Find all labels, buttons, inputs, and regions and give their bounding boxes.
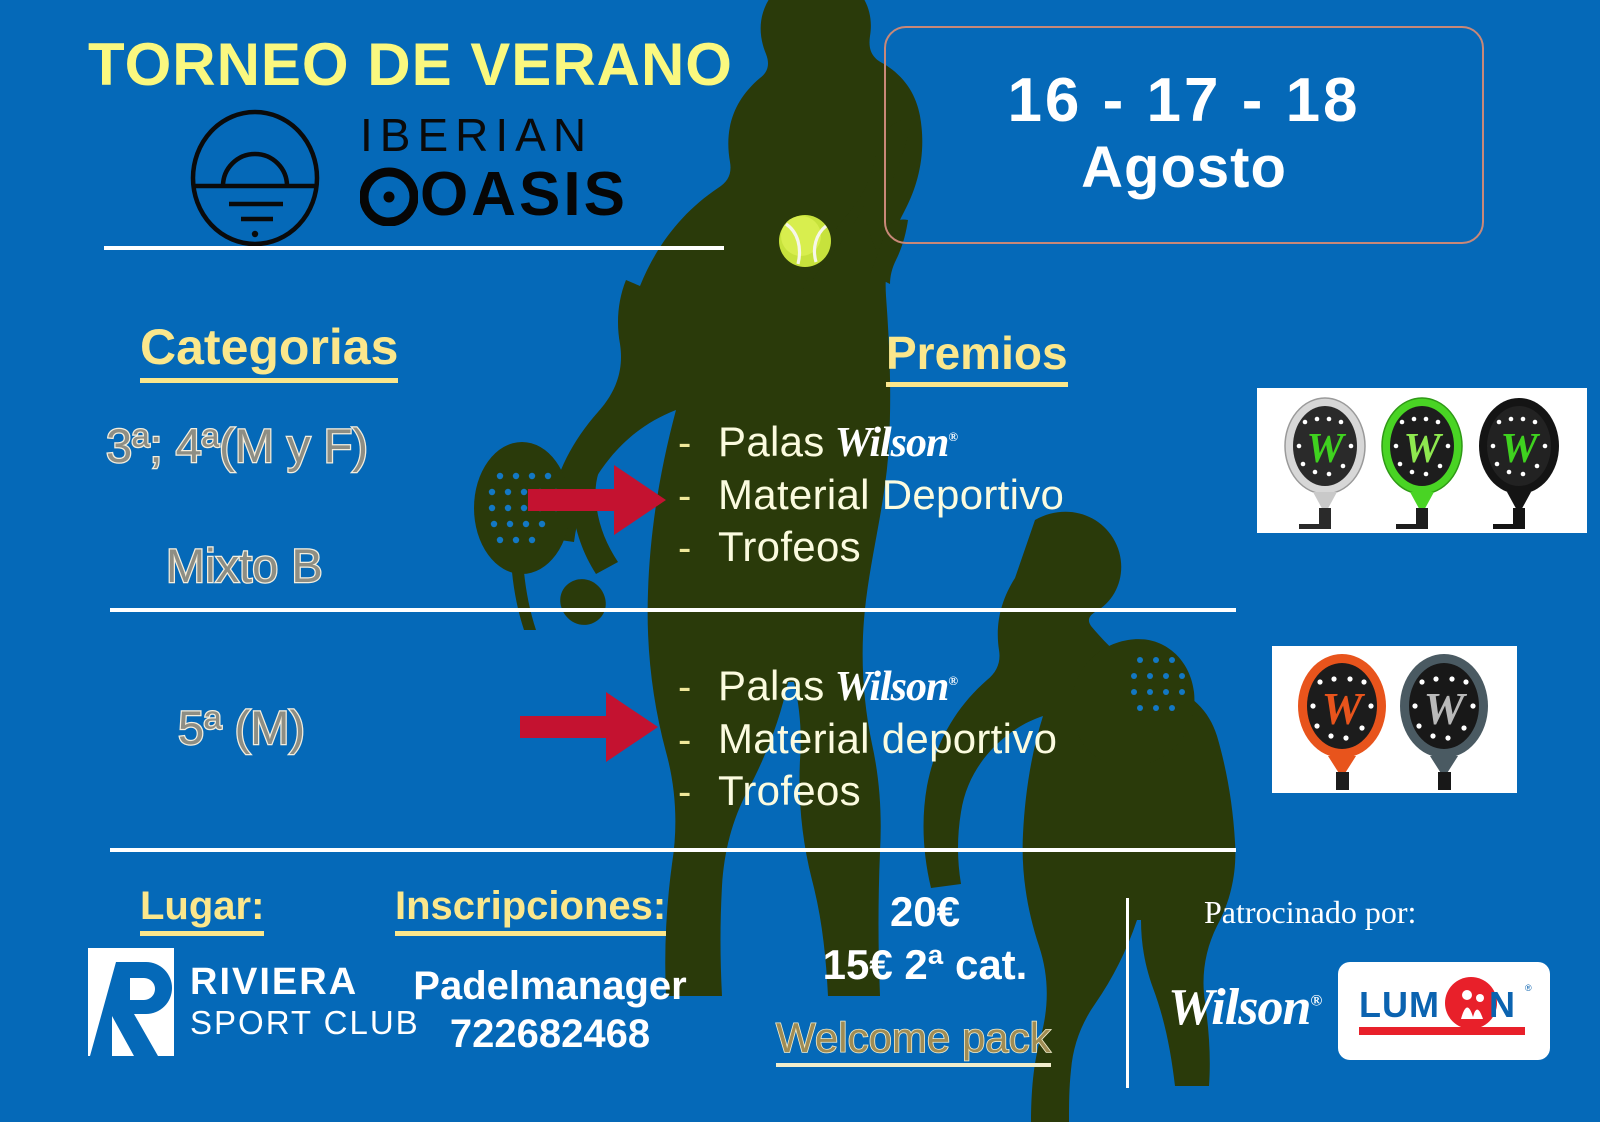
sponsors-heading: Patrocinado por: — [1204, 894, 1416, 931]
prize-item: - Material deportivo — [678, 715, 1057, 763]
svg-text:W: W — [1306, 426, 1346, 472]
riviera-r-mark-icon — [88, 948, 174, 1056]
prize-label: Material deportivo — [718, 715, 1057, 763]
heading-inscripciones: Inscripciones: — [395, 884, 666, 936]
tournament-poster: TORNEO DE VERANO IBERIAN OASIS 16 - 17 -… — [0, 0, 1600, 1122]
prize-list-primary: - Palas Wilson® - Material Deportivo - T… — [678, 418, 1064, 575]
svg-text:N: N — [1489, 984, 1515, 1025]
section-divider — [110, 608, 1236, 612]
svg-text:W: W — [1500, 426, 1540, 472]
heading-premios: Premios — [886, 326, 1068, 387]
welcome-pack-label: Welcome pack — [776, 1014, 1051, 1067]
prize-item: - Trofeos — [678, 767, 1057, 815]
registration-platform: Padelmanager — [400, 962, 700, 1010]
bullet-dash: - — [678, 474, 718, 519]
svg-text:LUM: LUM — [1359, 984, 1440, 1025]
title-divider — [104, 246, 724, 250]
prize-label: Trofeos — [718, 767, 861, 815]
date-month: Agosto — [1081, 135, 1287, 202]
pricing-info: 20€ 15€ 2ª cat. — [780, 886, 1070, 991]
category-item: 3ª; 4ª(M y F) — [106, 418, 368, 473]
prize-label: Palas — [718, 662, 825, 710]
registration-info: Padelmanager 722682468 — [400, 962, 700, 1058]
bullet-dash: - — [678, 421, 718, 466]
price-second-category: 15€ 2ª cat. — [780, 939, 1070, 992]
logo-line-oasis: OASIS — [420, 164, 628, 226]
oasis-sunset-circle-icon — [185, 108, 325, 248]
wilson-wordmark: Wilson® — [835, 663, 958, 711]
prize-item: - Palas Wilson® — [678, 662, 1057, 711]
svg-text:W: W — [1403, 426, 1443, 472]
price-main: 20€ — [780, 886, 1070, 939]
bullet-dash: - — [678, 526, 718, 571]
sponsor-wilson-wordmark: Wilson® — [1168, 978, 1321, 1037]
riviera-subtitle: SPORT CLUB — [190, 1004, 420, 1042]
bullet-dash: - — [678, 718, 718, 763]
svg-text:W: W — [1424, 683, 1468, 734]
prize-list-secondary: - Palas Wilson® - Material deportivo - T… — [678, 662, 1057, 819]
bullet-dash: - — [678, 665, 718, 710]
arrow-icon — [520, 465, 666, 762]
svg-text:W: W — [1322, 683, 1366, 734]
category-item: 5ª (M) — [178, 700, 305, 755]
date-days: 16 - 17 - 18 — [1007, 68, 1360, 133]
prize-label: Material Deportivo — [718, 471, 1064, 519]
page-title: TORNEO DE VERANO — [88, 30, 733, 99]
riviera-sport-club-logo: RIVIERA SPORT CLUB — [88, 948, 420, 1056]
registration-phone: 722682468 — [400, 1010, 700, 1058]
prize-label: Palas — [718, 418, 825, 466]
oasis-o-dot-icon — [360, 164, 418, 226]
category-item: Mixto B — [166, 538, 323, 593]
bullet-dash: - — [678, 770, 718, 815]
prize-item: - Material Deportivo — [678, 471, 1064, 519]
sponsor-lumon-logo: LUM N ® — [1338, 962, 1550, 1060]
svg-text:®: ® — [1525, 983, 1532, 993]
iberian-oasis-logo: IBERIAN OASIS — [185, 108, 725, 248]
heading-categorias: Categorias — [140, 318, 398, 383]
section-divider — [110, 848, 1236, 852]
tennis-ball-icon — [778, 214, 832, 268]
riviera-name: RIVIERA — [190, 963, 420, 1001]
logo-line-iberian: IBERIAN — [360, 112, 628, 158]
prize-item: - Trofeos — [678, 523, 1064, 571]
date-box: 16 - 17 - 18 Agosto — [884, 26, 1484, 244]
wilson-wordmark: Wilson® — [835, 419, 958, 467]
prize-item: - Palas Wilson® — [678, 418, 1064, 467]
prize-label: Trofeos — [718, 523, 861, 571]
sponsor-divider — [1126, 898, 1129, 1088]
rackets-image-bottom: W W — [1272, 646, 1517, 793]
rackets-image-top: W W — [1257, 388, 1587, 533]
heading-lugar: Lugar: — [140, 884, 264, 936]
